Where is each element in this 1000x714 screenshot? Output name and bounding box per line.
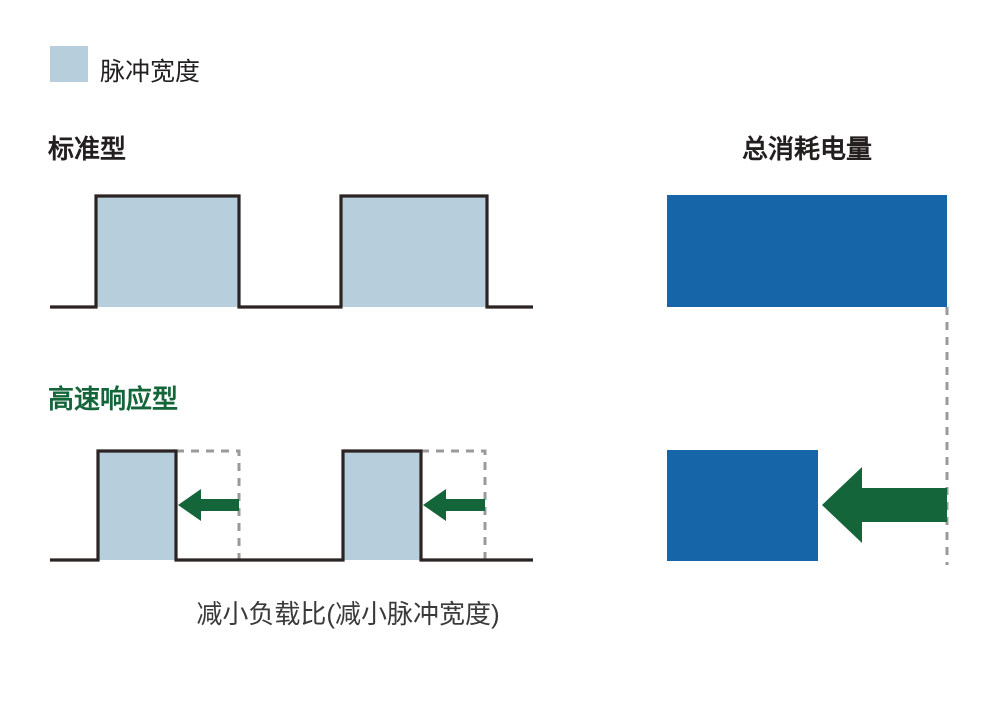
highspeed-pulse-fill-2 xyxy=(343,451,421,560)
standard-pulse-fill-2 xyxy=(341,196,487,307)
highspeed-pulse-fill-1 xyxy=(98,451,176,560)
standard-pulse-fill-1 xyxy=(96,196,239,307)
duty-cycle-caption: 减小负载比(减小脉冲宽度) xyxy=(196,599,499,629)
highspeed-waveform xyxy=(50,451,533,562)
highspeed-heading: 高速响应型 xyxy=(48,384,178,414)
power-reduce-arrow xyxy=(822,467,947,543)
duty-reduce-arrow-2 xyxy=(423,489,485,521)
legend: 脉冲宽度 xyxy=(50,46,200,86)
duty-reduce-arrow-1 xyxy=(178,489,239,521)
duty-cycle-power-diagram: 脉冲宽度 标准型 高速响应型 减小负载比(减小脉冲宽度) 总消耗电量 xyxy=(0,0,1000,714)
standard-power-bar xyxy=(667,195,947,307)
power-heading: 总消耗电量 xyxy=(742,134,872,164)
highspeed-power-bar xyxy=(667,450,818,561)
power-bars xyxy=(667,195,947,565)
legend-swatch xyxy=(50,46,88,82)
standard-heading: 标准型 xyxy=(48,134,126,164)
legend-label: 脉冲宽度 xyxy=(100,58,200,86)
standard-waveform xyxy=(50,196,533,307)
